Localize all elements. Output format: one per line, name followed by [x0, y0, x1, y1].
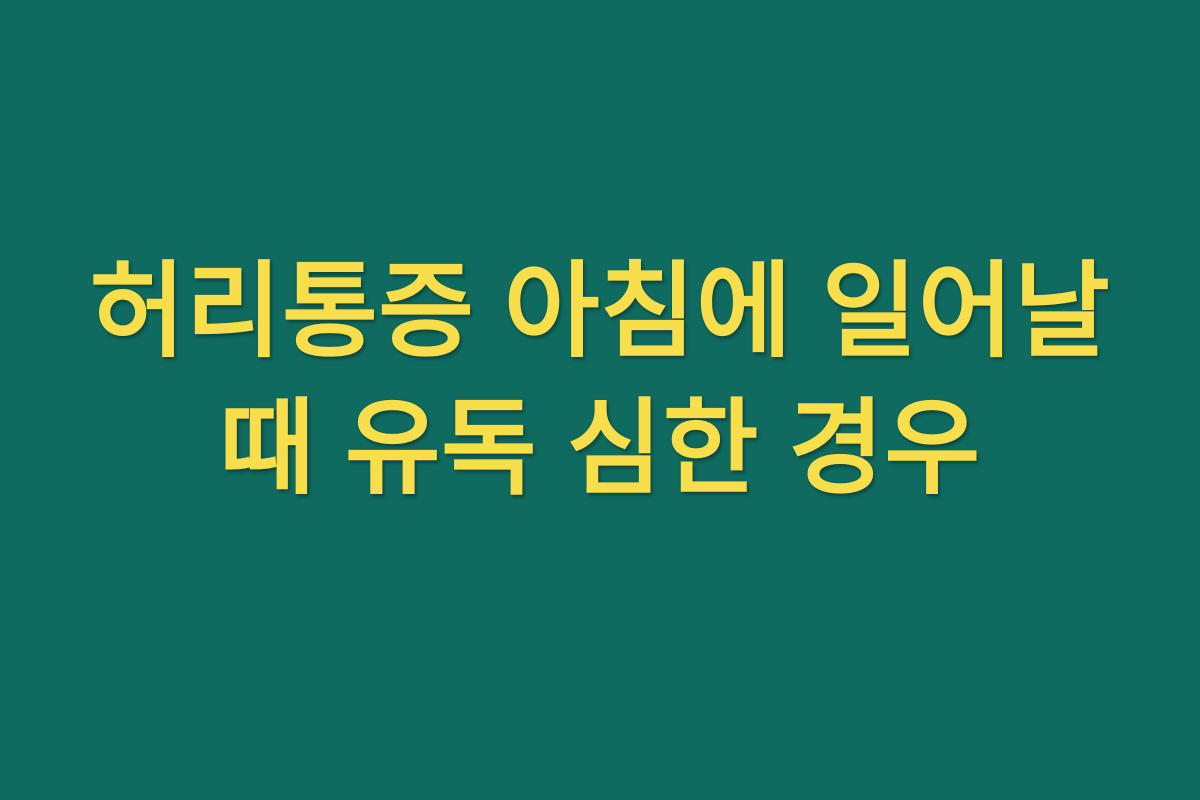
headline-line-1: 허리통증 아침에 일어날 — [40, 244, 1160, 381]
headline-line-2: 때 유독 심한 경우 — [40, 381, 1160, 518]
headline-text-block: 허리통증 아침에 일어날 때 유독 심한 경우 — [0, 244, 1200, 518]
thumbnail-canvas: 허리통증 아침에 일어날 때 유독 심한 경우 — [0, 0, 1200, 800]
